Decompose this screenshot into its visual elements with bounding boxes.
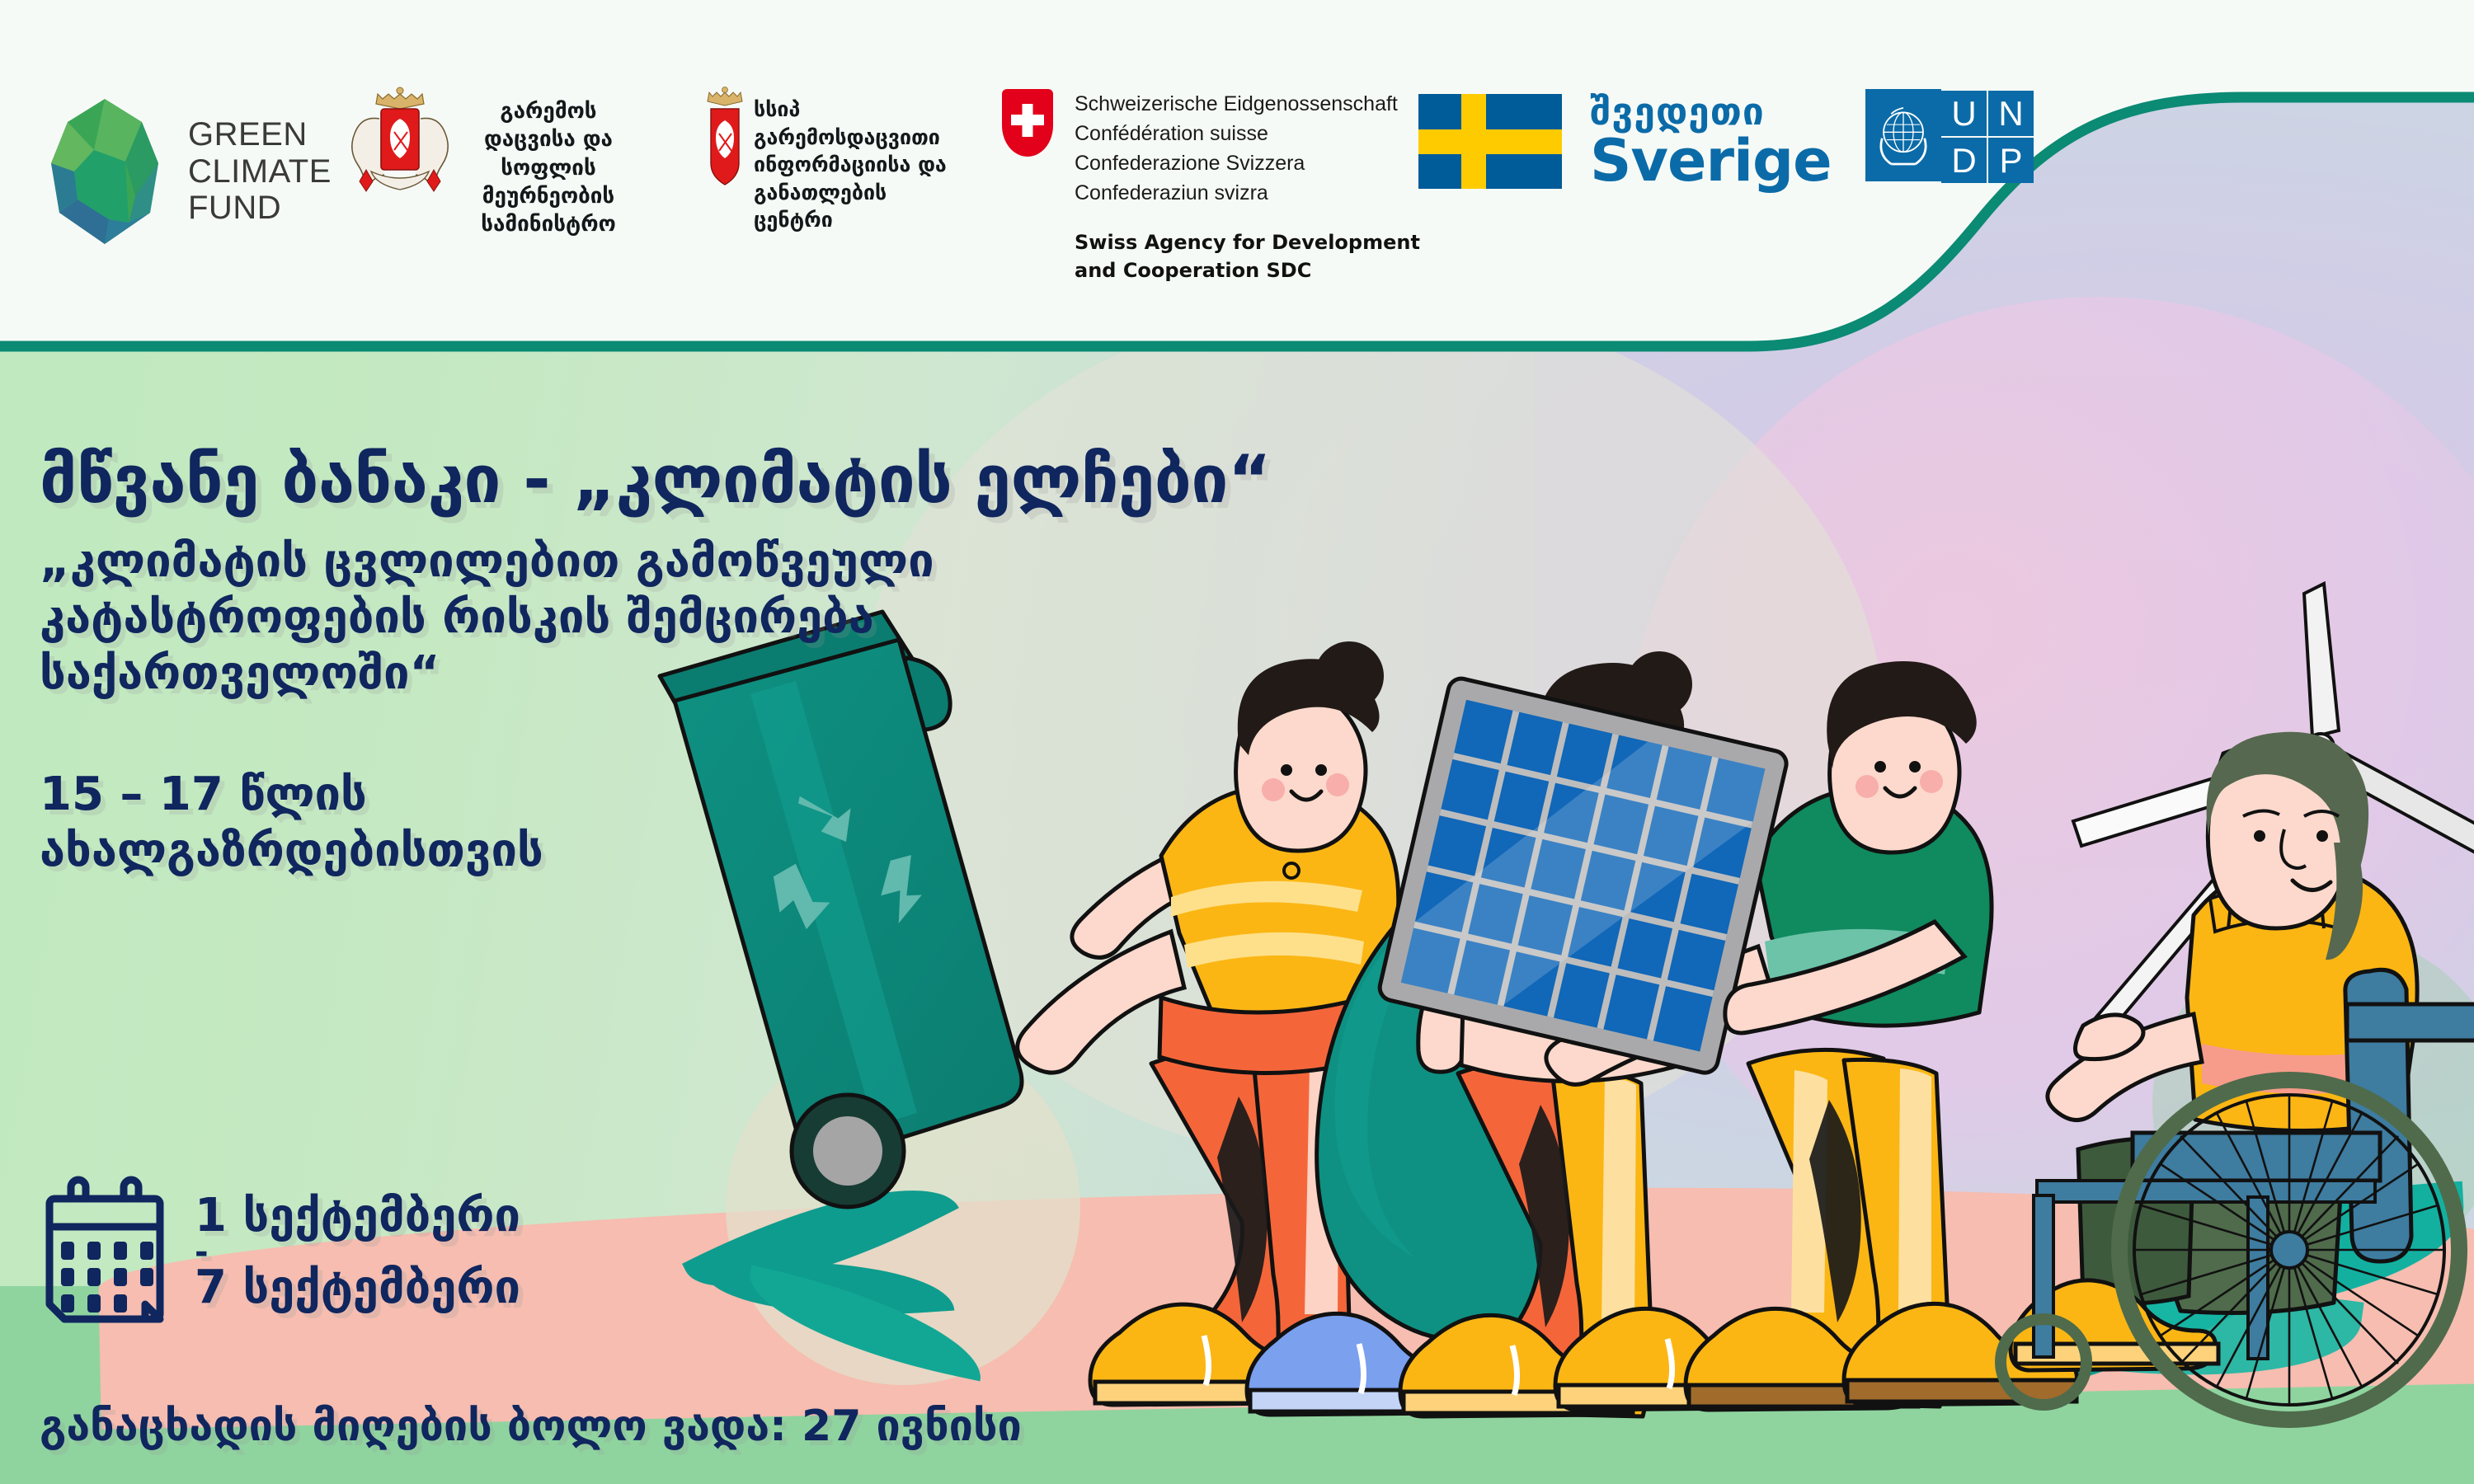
undp-letter-n: N bbox=[1988, 91, 2034, 136]
undp-letter-d: D bbox=[1941, 138, 1987, 183]
logo-swiss-sdc: Schweizerische Eidgenossenschaft Confédé… bbox=[1002, 89, 1420, 284]
georgia-shield-icon bbox=[676, 86, 754, 193]
application-deadline: განაცხადის მიღების ბოლო ვადა: 27 ივნისი bbox=[40, 1402, 1022, 1451]
logo-info-education-centre: სსიპ გარემოსდაცვითი ინფორმაციისა და განა… bbox=[676, 86, 948, 234]
date-separator: - bbox=[195, 1242, 520, 1262]
age-line-2: ახალგაზრდებისთვის bbox=[40, 823, 1376, 879]
subtitle-line-1: „კლიმატის ცვლილებით გამოწვეული bbox=[40, 533, 1376, 589]
ministry-caption: გარემოს დაცვისა და სოფლის მეურნეობის სამ… bbox=[470, 97, 627, 239]
logo-ministry-of-environment: გარემოს დაცვისა და სოფლის მეურნეობის სამ… bbox=[330, 86, 627, 239]
undp-letter-u: U bbox=[1941, 91, 1987, 136]
subtitle-line-3: საქართველოში“ bbox=[40, 646, 1376, 702]
gcf-gem-icon bbox=[43, 97, 167, 246]
calendar-icon bbox=[43, 1174, 167, 1331]
age-line-1: 15 – 17 წლის bbox=[40, 767, 1376, 823]
undp-letter-p: P bbox=[1988, 138, 2034, 183]
dates-block: 1 სექტემბერი - 7 სექტემბერი bbox=[43, 1174, 520, 1331]
dates-text: 1 სექტემბერი - 7 სექტემბერი bbox=[195, 1190, 520, 1313]
sweden-label-en: Sverige bbox=[1590, 132, 1832, 190]
georgia-coat-of-arms-icon bbox=[330, 86, 470, 193]
logo-green-climate-fund: GREEN CLIMATE FUND bbox=[43, 97, 332, 246]
age-requirement: 15 – 17 წლის ახალგაზრდებისთვის bbox=[40, 767, 1376, 880]
poster-canvas: GREEN CLIMATE FUND გარემოს დაცვისა და სო… bbox=[0, 0, 2474, 1484]
centre-caption: სსიპ გარემოსდაცვითი ინფორმაციისა და განა… bbox=[754, 96, 948, 234]
swiss-cross-icon bbox=[1002, 89, 1053, 157]
date-end: 7 სექტემბერი bbox=[195, 1262, 520, 1314]
logo-sweden: შვედეთი Sverige bbox=[1418, 92, 1832, 190]
date-start: 1 სექტემბერი bbox=[195, 1190, 520, 1242]
page-title: მწვანე ბანაკი - „კლიმატის ელჩები“ bbox=[40, 445, 1376, 515]
gcf-wordmark: GREEN CLIMATE FUND bbox=[188, 116, 332, 227]
swiss-confederation-names: Schweizerische Eidgenossenschaft Confédé… bbox=[1075, 89, 1420, 208]
copy-block: მწვანე ბანაკი - „კლიმატის ელჩები“ „კლიმა… bbox=[40, 445, 1376, 879]
subtitle: „კლიმატის ცვლილებით გამოწვეული კატასტროფ… bbox=[40, 533, 1376, 702]
logo-undp: U N D P bbox=[1865, 89, 1958, 183]
sweden-flag-icon bbox=[1418, 94, 1562, 189]
swiss-agency-name: Swiss Agency for Development and Coopera… bbox=[1075, 229, 1420, 284]
subtitle-line-2: კატასტროფების რისკის შემცირება bbox=[40, 589, 1376, 646]
un-emblem-icon bbox=[1865, 89, 1941, 181]
sweden-label-ka: შვედეთი bbox=[1590, 92, 1832, 130]
